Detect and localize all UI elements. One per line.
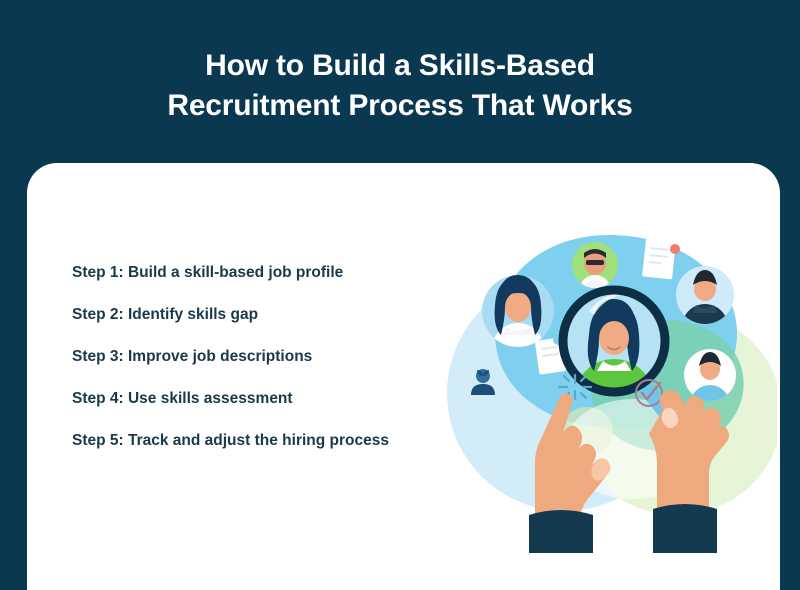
illustration-svg: [437, 223, 777, 553]
infographic-root: How to Build a Skills-Based Recruitment …: [0, 0, 800, 590]
list-item: Step 2: Identify skills gap: [72, 305, 412, 325]
avatar-small-user: [468, 368, 498, 398]
page-title-line-2: Recruitment Process That Works: [0, 86, 800, 126]
page-title: How to Build a Skills-Based Recruitment …: [0, 46, 800, 126]
list-item: Step 4: Use skills assessment: [72, 389, 412, 409]
steps-list: Step 1: Build a skill-based job profile …: [72, 263, 412, 451]
content-card: Step 1: Build a skill-based job profile …: [27, 163, 780, 590]
list-item: Step 3: Improve job descriptions: [72, 347, 412, 367]
hand-left-sleeve: [529, 510, 593, 553]
list-item: Step 5: Track and adjust the hiring proc…: [72, 431, 412, 451]
page-title-line-1: How to Build a Skills-Based: [0, 46, 800, 86]
hand-right-sleeve: [653, 504, 717, 553]
recruitment-illustration: [437, 223, 777, 553]
list-item: Step 1: Build a skill-based job profile: [72, 263, 412, 283]
document-dot-icon: [670, 244, 680, 254]
glasses-icon: [586, 260, 604, 265]
